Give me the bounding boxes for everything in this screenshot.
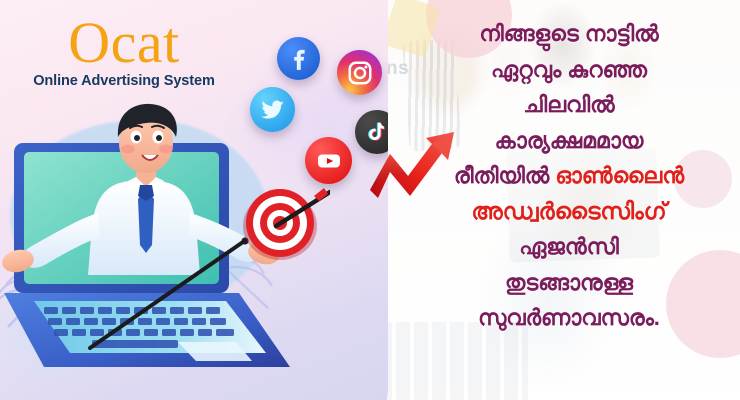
headline-line-3: ചിലവിൽ bbox=[398, 87, 740, 123]
headline-line-6: അഡ്വർടൈസിംഗ് bbox=[398, 194, 740, 230]
dartboard-target-icon bbox=[240, 182, 330, 264]
headline-line-2: ഏറ്റവും കുറഞ്ഞ bbox=[398, 52, 740, 88]
brand-logo[interactable]: Ocat Online Advertising System bbox=[24, 14, 224, 89]
headline-line-7: ഏജൻസി bbox=[398, 229, 740, 265]
headline-line-9: സുവർണാവസരം. bbox=[398, 300, 740, 336]
laptop-base bbox=[4, 293, 290, 367]
headline-line-4: കാര്യക്ഷമമായ bbox=[398, 123, 740, 159]
headline-block: നിങ്ങളുടെ നാട്ടിൽ ഏറ്റവും കുറഞ്ഞ ചിലവിൽ … bbox=[398, 16, 740, 336]
logo-tagline: Online Advertising System bbox=[24, 73, 224, 89]
facebook-icon[interactable] bbox=[277, 37, 320, 80]
logo-wordmark: Ocat bbox=[24, 14, 224, 72]
headline-line-5-normal: രീതിയിൽ bbox=[454, 163, 556, 188]
headline-line-1: നിങ്ങളുടെ നാട്ടിൽ bbox=[398, 16, 740, 52]
youtube-icon[interactable] bbox=[305, 137, 352, 184]
ocat-advertising-banner: Ocat Online Advertising System bbox=[0, 0, 740, 400]
headline-line-5-accent: ഓൺലൈൻ bbox=[555, 163, 684, 188]
instagram-icon[interactable] bbox=[337, 50, 382, 95]
headline-line-5: രീതിയിൽ ഓൺലൈൻ bbox=[398, 158, 740, 194]
headline-line-8: തുടങ്ങാനുള്ള bbox=[398, 265, 740, 301]
twitter-icon[interactable] bbox=[250, 87, 295, 132]
